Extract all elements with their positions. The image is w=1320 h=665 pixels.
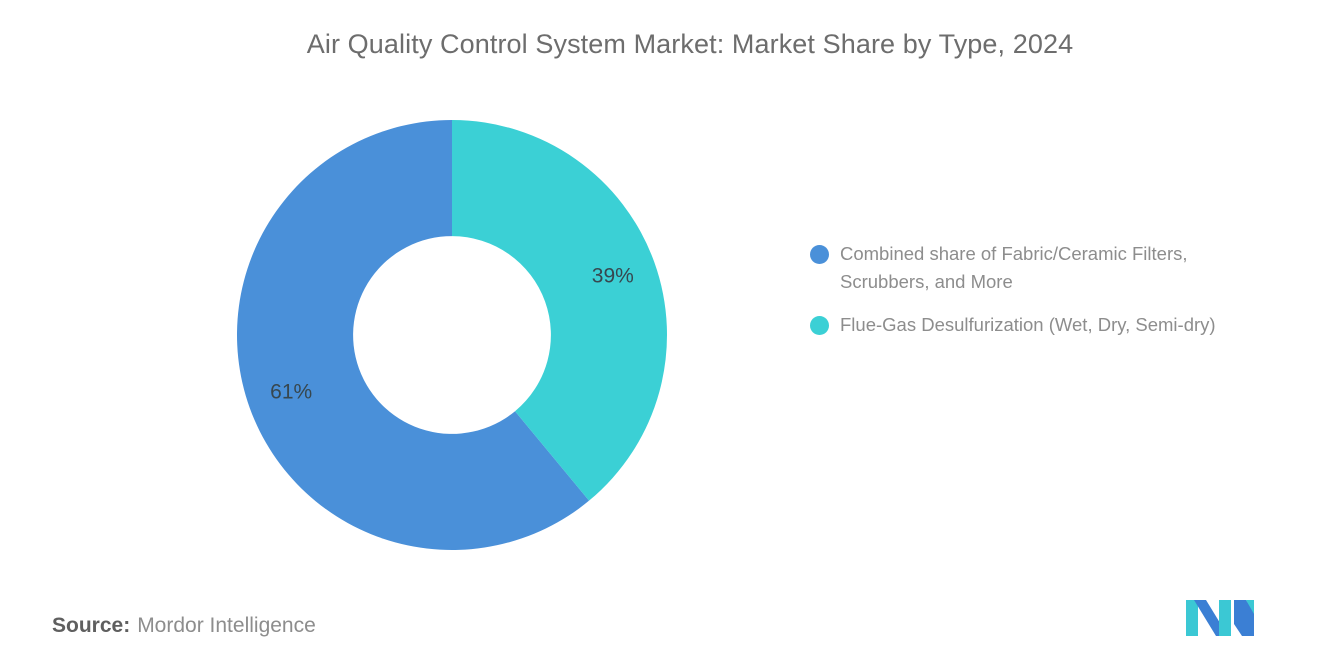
chart-legend: Combined share of Fabric/Ceramic Filters… — [810, 240, 1290, 354]
legend-swatch-icon — [810, 316, 829, 335]
legend-item-flue-gas-desulfurization[interactable]: Flue-Gas Desulfurization (Wet, Dry, Semi… — [810, 311, 1290, 339]
chart-figure: Air Quality Control System Market: Marke… — [0, 0, 1320, 665]
donut-chart-svg: 61% 39% — [237, 120, 667, 550]
source-label: Source: — [52, 614, 130, 637]
legend-item-combined-filters[interactable]: Combined share of Fabric/Ceramic Filters… — [810, 240, 1290, 296]
donut-label-combined-filters: 61% — [270, 380, 312, 403]
source-name: Mordor Intelligence — [137, 614, 316, 637]
legend-item-label: Flue-Gas Desulfurization (Wet, Dry, Semi… — [840, 311, 1216, 339]
mordor-intelligence-logo-icon — [1186, 598, 1254, 638]
donut-chart: 61% 39% — [237, 120, 667, 550]
chart-title: Air Quality Control System Market: Marke… — [0, 28, 1320, 60]
chart-title-text: Air Quality Control System Market: Marke… — [307, 28, 1073, 60]
source-attribution: Source:Mordor Intelligence — [52, 612, 316, 640]
legend-item-label: Combined share of Fabric/Ceramic Filters… — [840, 240, 1280, 296]
donut-label-flue-gas-desulfurization: 39% — [592, 265, 634, 288]
legend-swatch-icon — [810, 245, 829, 264]
